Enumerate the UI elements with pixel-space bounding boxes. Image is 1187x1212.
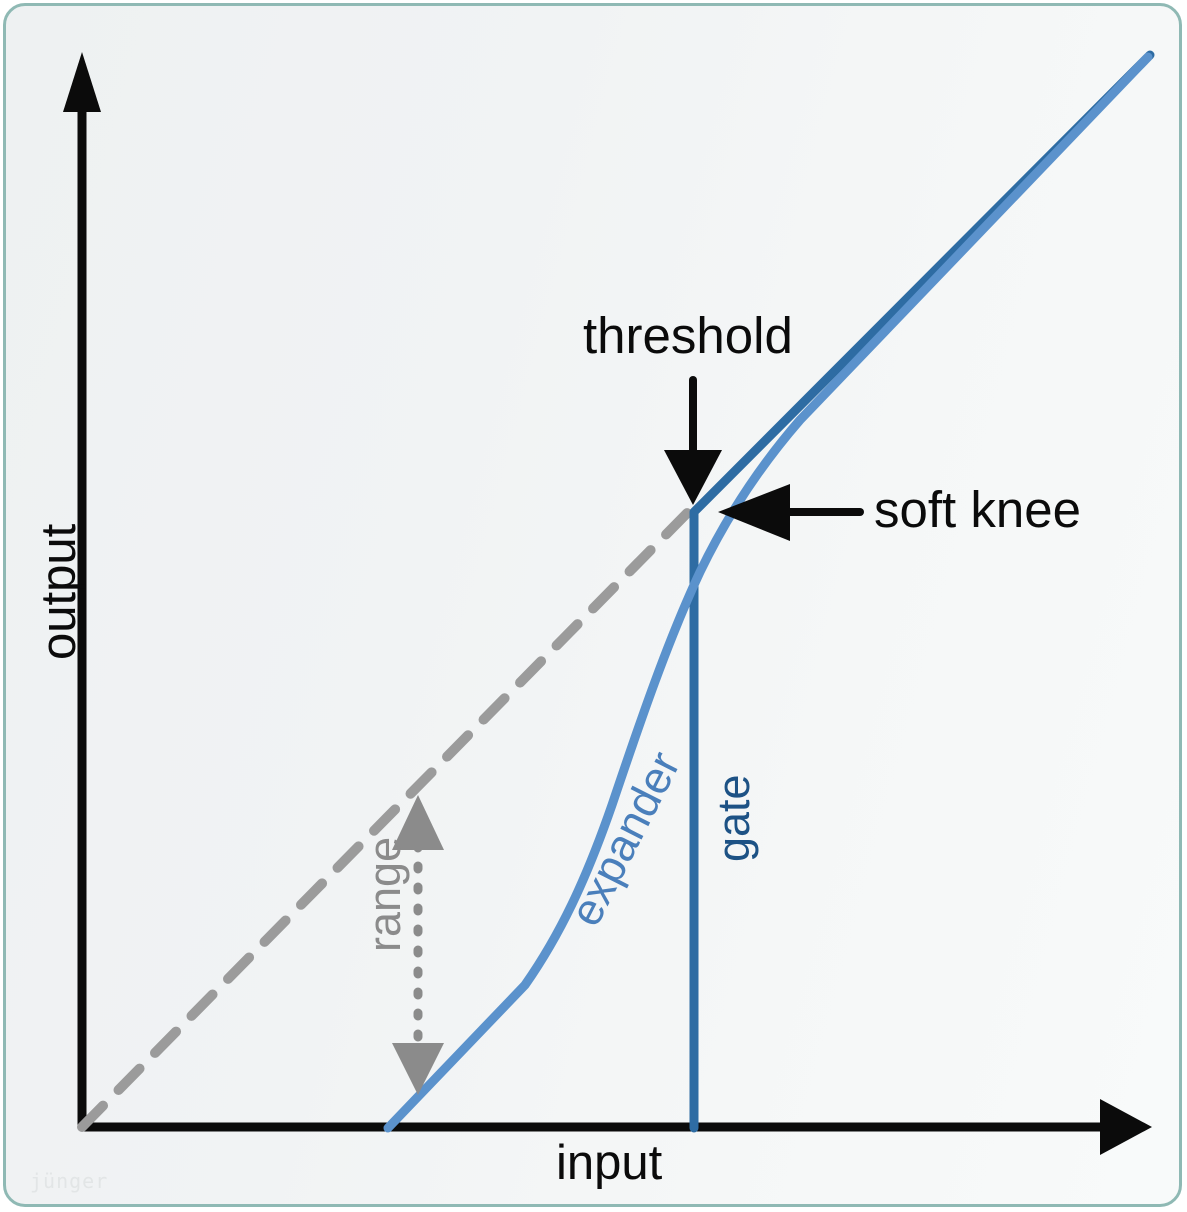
- expander-curve: [388, 57, 1148, 1128]
- gate-curve: [694, 55, 1150, 1128]
- threshold-label: threshold: [583, 310, 793, 361]
- brand-watermark: jünger: [30, 1171, 108, 1191]
- soft-knee-label: soft knee: [874, 484, 1081, 535]
- gate-label-text: gate: [711, 774, 756, 862]
- transfer-curve-plot: [0, 0, 1187, 1212]
- threshold-arrow: [664, 380, 722, 505]
- range-label-text: range: [362, 837, 407, 952]
- x-axis-label: input: [556, 1139, 662, 1188]
- figure-root: threshold soft knee input output expande…: [0, 0, 1187, 1212]
- y-axis-label-text: output: [35, 524, 84, 660]
- soft-knee-arrow: [718, 484, 860, 541]
